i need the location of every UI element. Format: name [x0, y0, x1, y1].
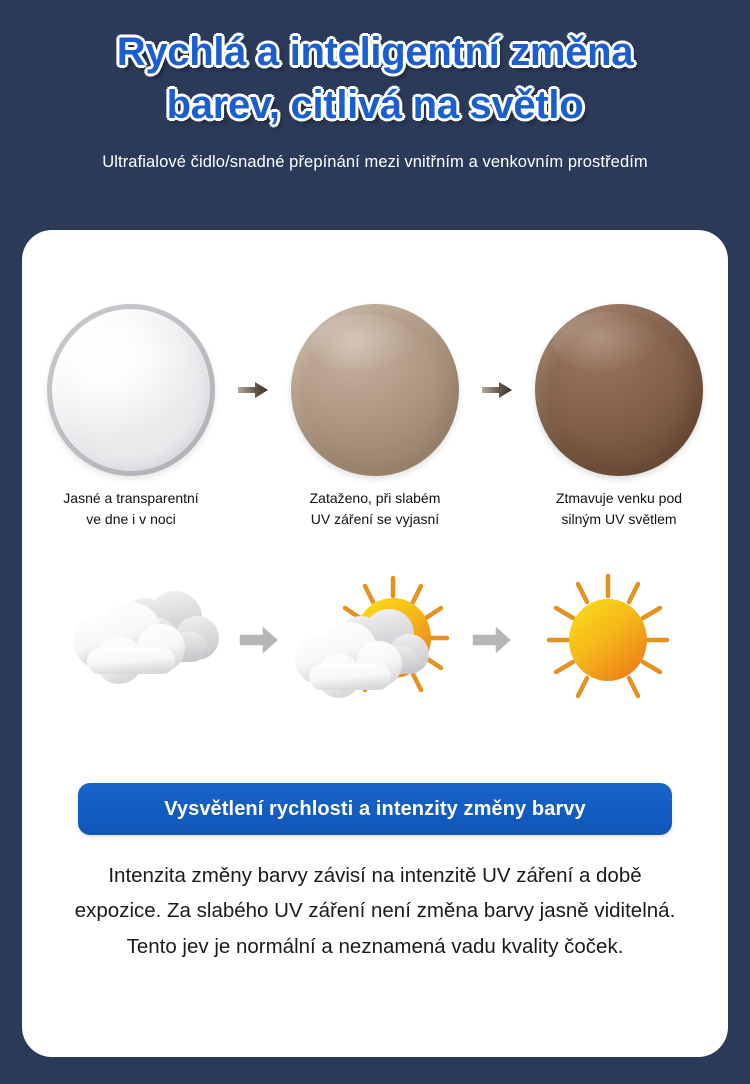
arrow-right-icon: [236, 380, 270, 400]
caption-spacer-2: [480, 488, 514, 531]
arrow-right-icon-2: [480, 380, 514, 400]
explanation-banner-label: Vysvětlení rychlosti a intenzity změny b…: [164, 798, 586, 821]
arrow-right-block-icon-2: [469, 620, 515, 660]
lens-caption-medium-line-2: UV záření se vyjasní: [284, 509, 466, 530]
lens-caption-dark-line-2: silným UV světlem: [528, 509, 710, 530]
sun-disc: [569, 599, 647, 681]
lens-caption-clear-line-1: Jasné a transparentní: [40, 488, 222, 509]
lens-caption-dark-line-1: Ztmavuje venku pod: [528, 488, 710, 509]
lens-caption-medium-line-1: Zataženo, při slabém: [284, 488, 466, 509]
page-subtitle: Ultrafialové čidlo/snadné přepínání mezi…: [0, 153, 750, 172]
dark-tinted-lens-icon: [535, 304, 703, 476]
weather-stage-cloudy: [52, 565, 232, 715]
lens-caption-medium: Zataženo, při slabém UV záření se vyjasn…: [284, 488, 466, 531]
page-title-line-2: barev, citlivá na světlo: [18, 79, 732, 132]
lens-stage-clear: [40, 290, 222, 490]
lens-stage-dark: [528, 290, 710, 490]
weather-stage-partly-cloudy: [285, 565, 465, 715]
clear-lens-icon: [47, 304, 215, 476]
explanation-paragraph: Intenzita změny barvy závisí na intenzit…: [70, 858, 680, 964]
lens-stage-medium: [284, 290, 466, 490]
lens-progression-row: [22, 282, 728, 497]
sunny-icon: [533, 568, 683, 713]
content-card: Jasné a transparentní ve dne i v noci Za…: [22, 230, 728, 1057]
lens-caption-clear-line-2: ve dne i v noci: [40, 509, 222, 530]
page-title: Rychlá a inteligentní změna barev, citli…: [0, 26, 750, 132]
page-title-line-1: Rychlá a inteligentní změna: [18, 26, 732, 79]
lens-caption-clear: Jasné a transparentní ve dne i v noci: [40, 488, 222, 531]
caption-spacer-1: [236, 488, 270, 531]
page-header: Rychlá a inteligentní změna barev, citli…: [0, 0, 750, 172]
lens-caption-dark: Ztmavuje venku pod silným UV světlem: [528, 488, 710, 531]
partly-cloudy-icon: [285, 568, 465, 713]
cloudy-icon: [57, 580, 227, 700]
arrow-right-block-icon: [236, 620, 282, 660]
explanation-banner[interactable]: Vysvětlení rychlosti a intenzity změny b…: [78, 783, 672, 835]
lens-caption-row: Jasné a transparentní ve dne i v noci Za…: [22, 488, 728, 531]
weather-progression-row: [22, 560, 728, 720]
medium-tinted-lens-icon: [291, 304, 459, 476]
weather-stage-sunny: [518, 565, 698, 715]
